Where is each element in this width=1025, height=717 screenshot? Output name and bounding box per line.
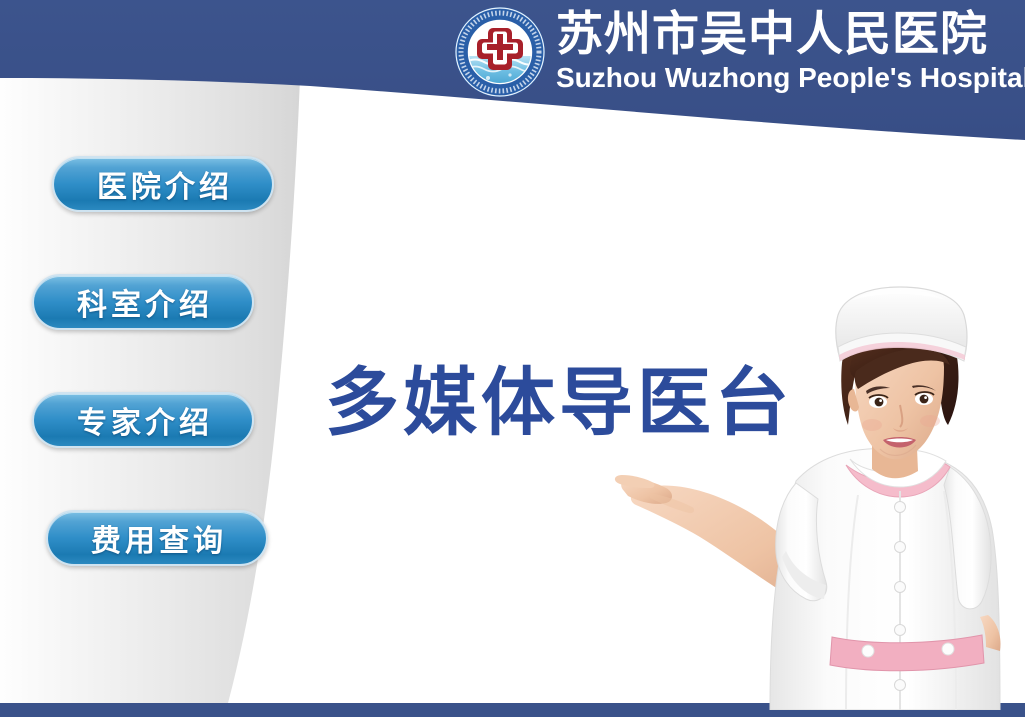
nurse-photo <box>600 285 1025 710</box>
sidebar-item-label: 医院介绍 <box>93 162 233 206</box>
brand-text-block: 苏州市吴中人民医院 Suzhou Wuzhong People's Hospit… <box>556 10 1025 94</box>
hospital-name-cn: 苏州市吴中人民医院 <box>556 10 1025 60</box>
page-title: 多媒体导医台 <box>325 363 793 443</box>
hospital-circular-emblem-icon <box>452 4 548 100</box>
sidebar-item-label: 费用查询 <box>87 516 227 560</box>
sidebar-item-label: 专家介绍 <box>73 398 213 442</box>
sidebar-item-hospital-intro[interactable]: 医院介绍 <box>52 156 274 212</box>
nurse-uniform <box>770 449 1001 710</box>
sidebar-item-expert-intro[interactable]: 专家介绍 <box>32 392 254 448</box>
sidebar-item-fee-inquiry[interactable]: 费用查询 <box>46 510 268 566</box>
kiosk-screen: 苏州市吴中人民医院 Suzhou Wuzhong People's Hospit… <box>0 0 1025 717</box>
hospital-name-en: Suzhou Wuzhong People's Hospital <box>556 62 1025 94</box>
hospital-logo <box>452 4 548 100</box>
sidebar-item-department-intro[interactable]: 科室介绍 <box>32 274 254 330</box>
brand-block: 苏州市吴中人民医院 Suzhou Wuzhong People's Hospit… <box>452 4 1025 100</box>
sidebar-item-label: 科室介绍 <box>73 280 213 324</box>
